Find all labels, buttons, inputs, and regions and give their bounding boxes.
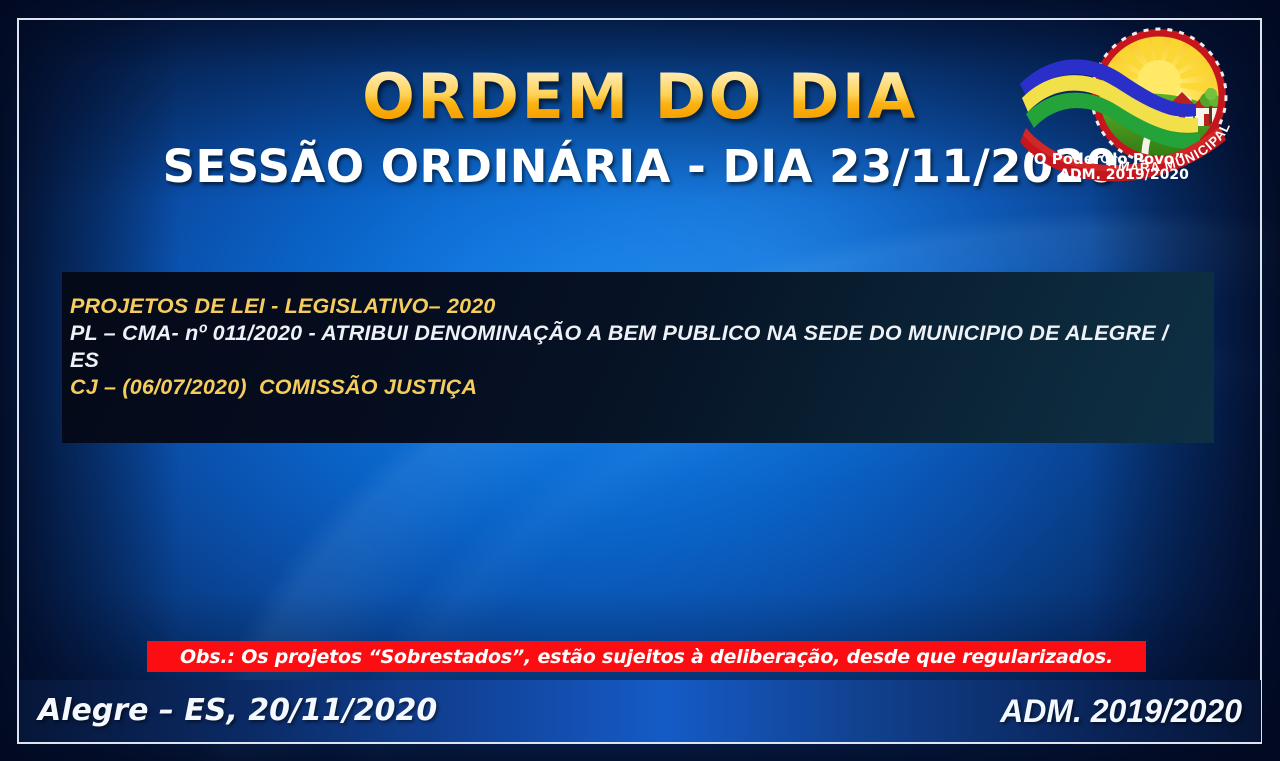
slide-root: ORDEM DO DIA SESSÃO ORDINÁRIA - DIA 23/1… (0, 0, 1280, 761)
observation-banner: Obs.: Os projetos “Sobrestados”, estão s… (147, 641, 1146, 672)
logo-motto: “O Poder do Povo” (1024, 150, 1184, 168)
agenda-line-bill: PL – CMA- nº 011/2020 - ATRIBUI DENOMINA… (70, 320, 1202, 374)
footer-administration: ADM. 2019/2020 (1000, 693, 1242, 730)
agenda-line-category: PROJETOS DE LEI - LEGISLATIVO– 2020 (70, 293, 1202, 320)
page-title: ORDEM DO DIA (362, 66, 918, 128)
camara-logo: CÂMARA MUNICIPAL DE ALEGRE - ES “O Poder… (996, 24, 1246, 192)
footer-location-date: Alegre – ES, 20/11/2020 (38, 693, 437, 728)
logo-admin: ADM. 2019/2020 (1059, 167, 1189, 183)
agenda-content-box: PROJETOS DE LEI - LEGISLATIVO– 2020 PL –… (62, 272, 1214, 443)
observation-text: Obs.: Os projetos “Sobrestados”, estão s… (180, 646, 1113, 668)
agenda-line-commission: CJ – (06/07/2020) COMISSÃO JUSTIÇA (70, 374, 1202, 401)
